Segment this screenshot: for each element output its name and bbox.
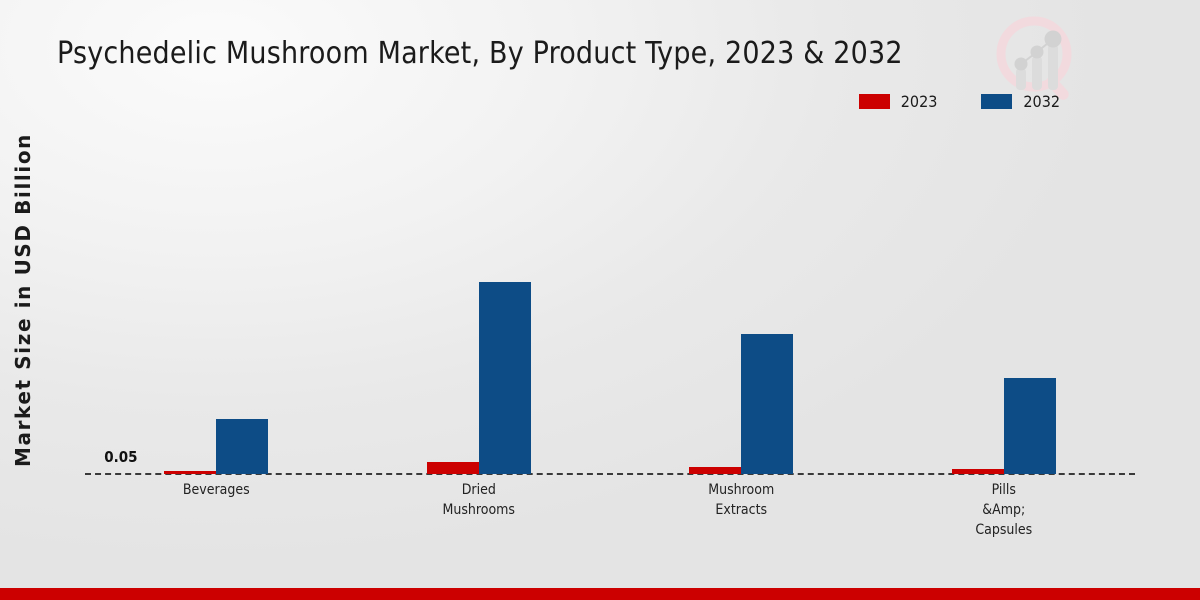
x-tick-beverages: Beverages bbox=[85, 480, 348, 540]
trend-line-icon bbox=[1021, 39, 1053, 64]
legend-item-2032[interactable]: 2032 bbox=[981, 92, 1060, 111]
legend-item-2023[interactable]: 2023 bbox=[859, 92, 938, 111]
chart-legend: 2023 2032 bbox=[859, 92, 1060, 111]
x-tick-pills-capsules-line-1: Pills bbox=[873, 480, 1136, 500]
bars-mushroom-extracts bbox=[689, 334, 793, 474]
bar-group-mushroom-extracts bbox=[610, 130, 873, 474]
x-tick-dried-mushrooms-line-1: Dried bbox=[348, 480, 611, 500]
y-axis-title: Market Size in USD Billion bbox=[6, 0, 40, 600]
x-axis-tick-labels: Beverages Dried Mushrooms Mushroom Extra… bbox=[85, 480, 1135, 540]
x-tick-pills-capsules: Pills &Amp; Capsules bbox=[873, 480, 1136, 540]
legend-label-2023: 2023 bbox=[901, 92, 938, 111]
plot-area: 0.05 bbox=[85, 130, 1135, 474]
bar-dried-mushrooms-2032[interactable] bbox=[479, 282, 531, 474]
x-tick-mushroom-extracts-line-2: Extracts bbox=[610, 500, 873, 520]
x-tick-dried-mushrooms: Dried Mushrooms bbox=[348, 480, 611, 540]
trend-dots-icon bbox=[1015, 31, 1062, 71]
bar-beverages-2032[interactable] bbox=[216, 419, 268, 474]
legend-swatch-2032 bbox=[981, 94, 1012, 109]
magnifier-icon bbox=[1001, 21, 1071, 102]
bar-pills-capsules-2023[interactable] bbox=[952, 469, 1004, 474]
x-tick-pills-capsules-line-3: Capsules bbox=[873, 520, 1136, 540]
bar-chart-icon bbox=[1016, 44, 1058, 90]
bars-pills-capsules bbox=[952, 378, 1056, 474]
bar-group-dried-mushrooms bbox=[348, 130, 611, 474]
x-tick-mushroom-extracts: Mushroom Extracts bbox=[610, 480, 873, 540]
bar-beverages-2023[interactable] bbox=[164, 471, 216, 474]
bars-beverages bbox=[164, 419, 268, 474]
x-tick-dried-mushrooms-line-2: Mushrooms bbox=[348, 500, 611, 520]
legend-swatch-2023 bbox=[859, 94, 890, 109]
x-tick-beverages-line-1: Beverages bbox=[85, 480, 348, 500]
bar-mushroom-extracts-2023[interactable] bbox=[689, 467, 741, 474]
chart-container: Psychedelic Mushroom Market, By Product … bbox=[0, 0, 1200, 600]
bar-group-beverages: 0.05 bbox=[85, 130, 348, 474]
x-tick-pills-capsules-line-2: &Amp; bbox=[873, 500, 1136, 520]
x-tick-mushroom-extracts-line-1: Mushroom bbox=[610, 480, 873, 500]
chart-title: Psychedelic Mushroom Market, By Product … bbox=[57, 36, 903, 71]
bar-group-pills-capsules bbox=[873, 130, 1136, 474]
bar-mushroom-extracts-2032[interactable] bbox=[741, 334, 793, 474]
footer-accent-band bbox=[0, 588, 1200, 600]
bars-dried-mushrooms bbox=[427, 282, 531, 474]
bar-dried-mushrooms-2023[interactable] bbox=[427, 462, 479, 474]
legend-label-2032: 2032 bbox=[1023, 92, 1060, 111]
bar-pills-capsules-2032[interactable] bbox=[1004, 378, 1056, 474]
bar-value-beverages-2023: 0.05 bbox=[104, 448, 137, 466]
